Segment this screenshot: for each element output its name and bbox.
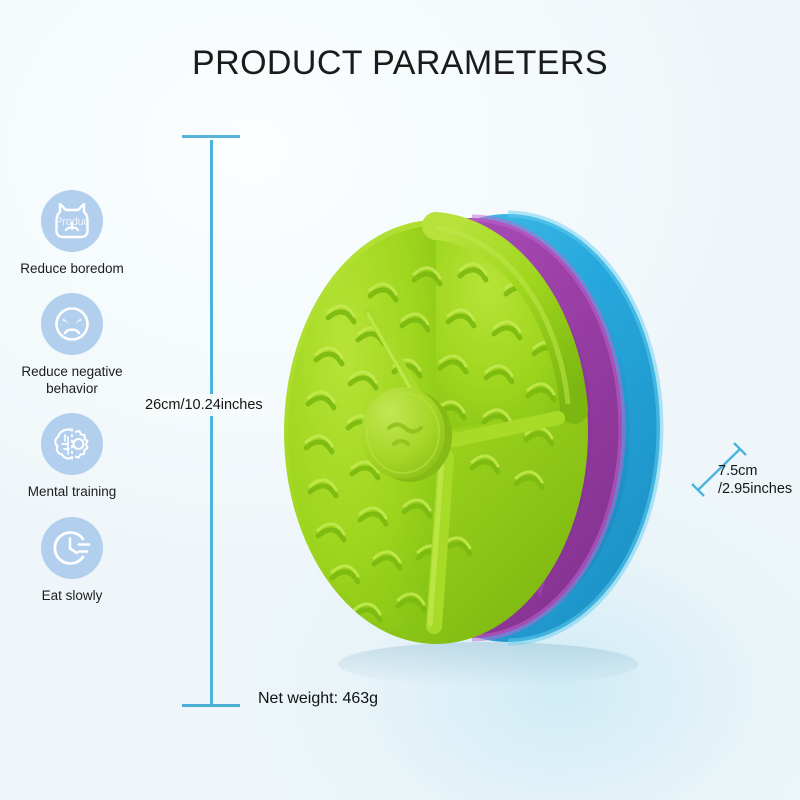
product-image (258, 128, 678, 688)
feature-item-reduce-negative-behavior: Reduce negative behavior (8, 293, 136, 397)
feature-list: Produc Reduce boredom Reduce negative be… (8, 190, 136, 620)
dimension-cap-bottom (182, 704, 240, 707)
thickness-label-line1: 7.5cm (718, 463, 758, 479)
feature-label: Reduce negative behavior (8, 364, 136, 397)
feature-item-eat-slowly: Eat slowly (8, 517, 136, 604)
feature-item-mental-training: Mental training (8, 413, 136, 500)
feature-label: Mental training (8, 484, 136, 500)
sad-face-icon (41, 293, 103, 355)
feature-item-reduce-boredom: Produc Reduce boredom (8, 190, 136, 277)
feature-label: Reduce boredom (8, 261, 136, 277)
thickness-label: 7.5cm /2.95inches (718, 463, 792, 498)
clock-speed-icon (41, 517, 103, 579)
diameter-label: 26cm/10.24inches (143, 394, 265, 416)
brain-gear-icon (41, 413, 103, 475)
net-weight-label: Net weight: 463g (258, 690, 378, 708)
product-parameters-page: PRODUCT PARAMETERS Produc Reduce boredom (0, 0, 800, 800)
feature-label-line1: Reduce negative (21, 364, 122, 379)
pet-head-icon: Produc (41, 190, 103, 252)
thickness-label-line2: /2.95inches (718, 481, 792, 497)
feature-label: Eat slowly (8, 588, 136, 604)
dimension-cap-top (182, 135, 240, 138)
dimension-line-vertical (210, 140, 213, 705)
feature-label-line2: behavior (46, 381, 98, 396)
page-title: PRODUCT PARAMETERS (0, 44, 800, 83)
